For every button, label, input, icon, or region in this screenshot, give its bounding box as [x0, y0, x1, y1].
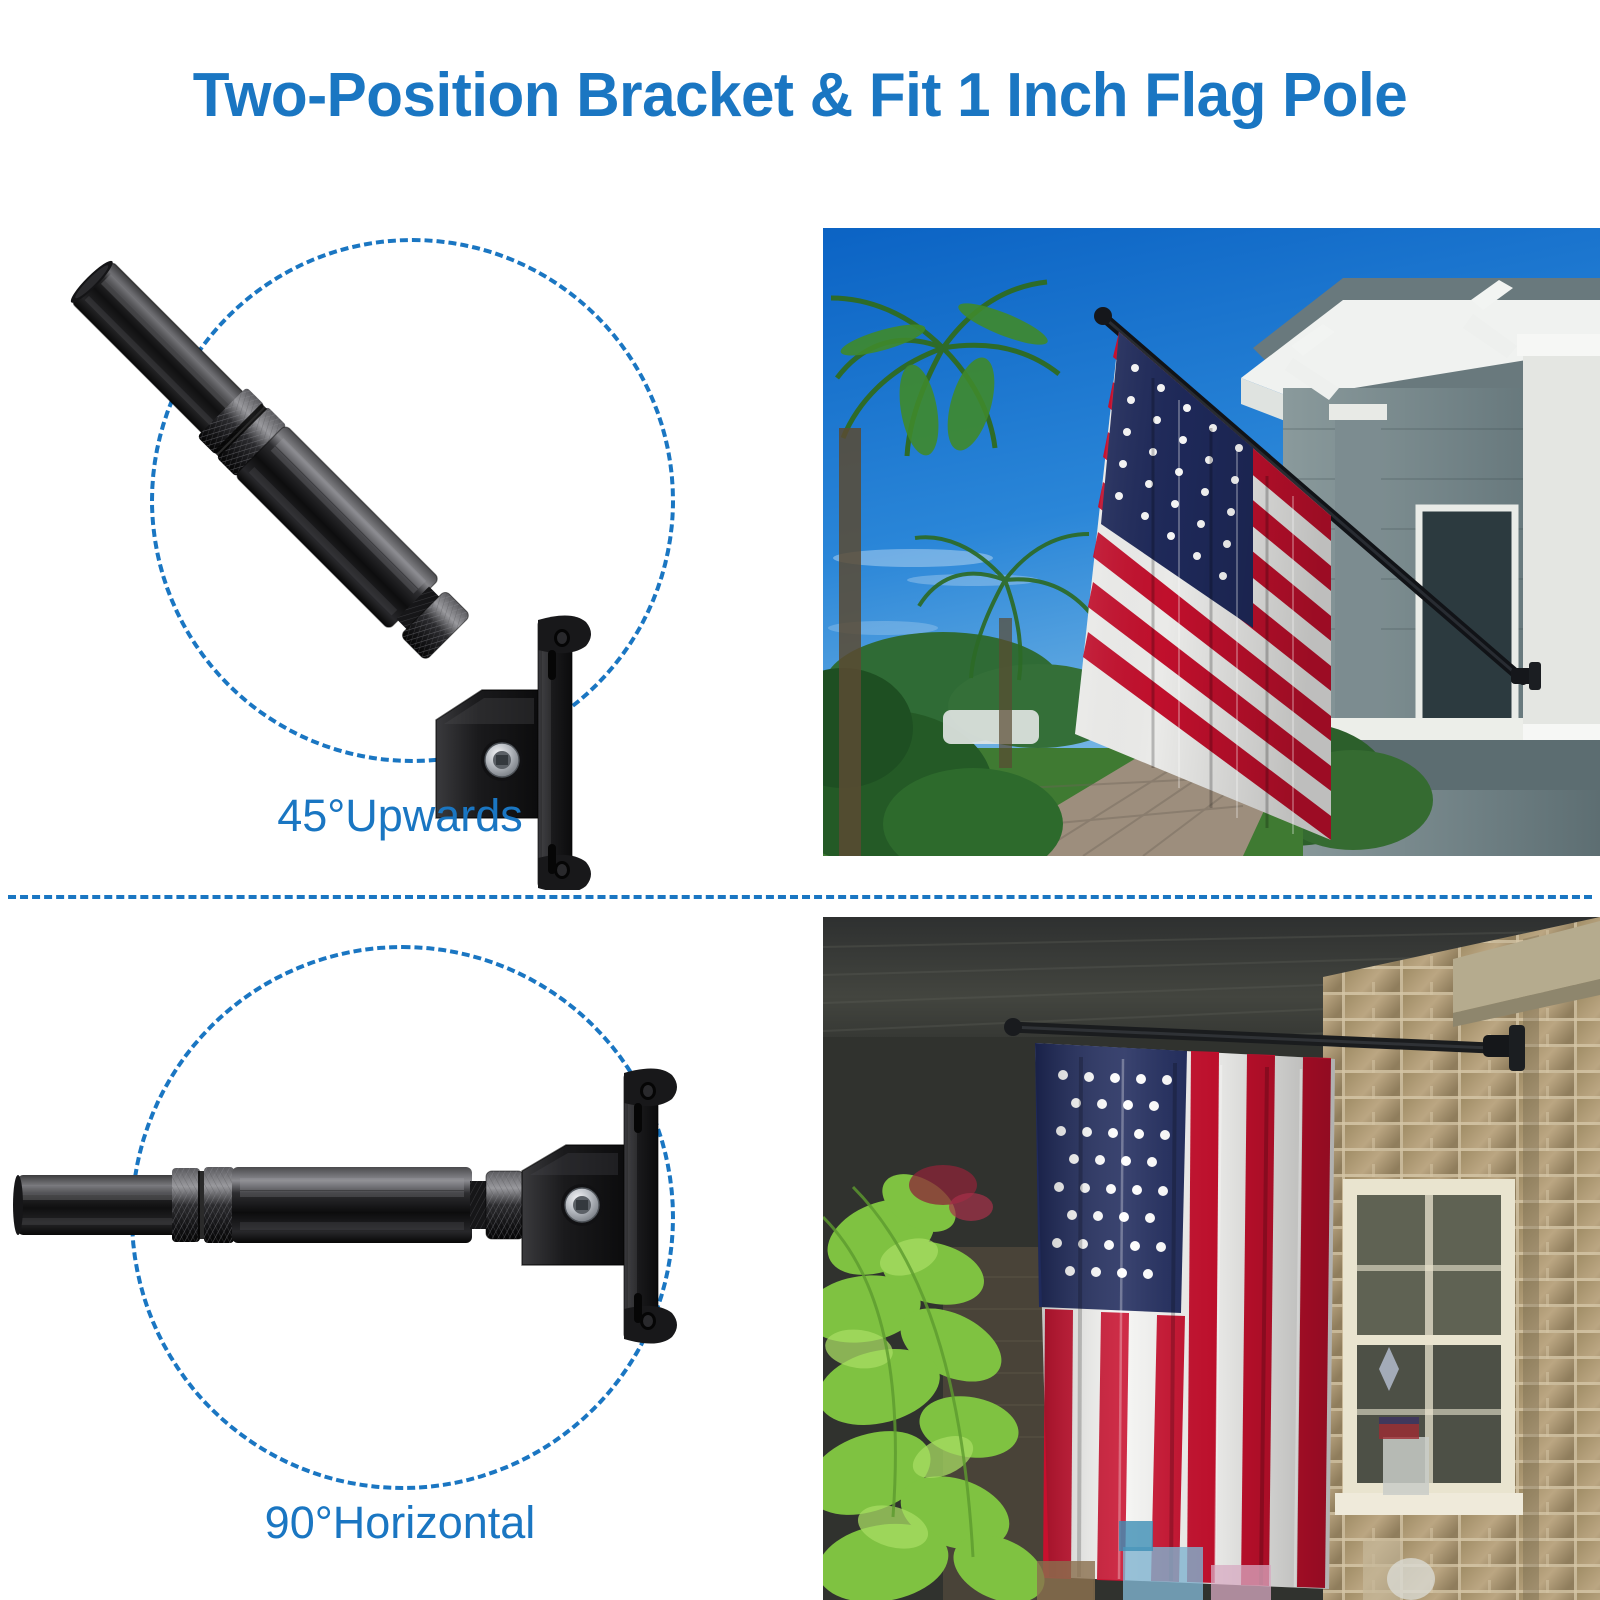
illustration-stage-90: 90°Horizontal: [0, 905, 800, 1595]
flag-90-scene: [823, 917, 1600, 1600]
panel-90-horizontal: 90°Horizontal: [0, 905, 800, 1595]
illustration-stage-45: 45°Upwards: [0, 190, 800, 890]
panel-45-upwards: 45°Upwards: [0, 190, 800, 890]
photo-flag-45-degrees: [823, 228, 1600, 856]
bracket-illustration-90-icon: [0, 905, 800, 1595]
bracket-illustration-45-icon: [0, 190, 800, 890]
photo-flag-90-degrees: [823, 917, 1600, 1600]
flag-45-scene: [823, 228, 1600, 856]
caption-45-upwards: 45°Upwards: [0, 790, 800, 842]
caption-90-horizontal: 90°Horizontal: [0, 1497, 800, 1549]
section-divider: [8, 895, 1592, 899]
title-bar: Two-Position Bracket & Fit 1 Inch Flag P…: [0, 0, 1600, 190]
page-title: Two-Position Bracket & Fit 1 Inch Flag P…: [193, 60, 1407, 131]
